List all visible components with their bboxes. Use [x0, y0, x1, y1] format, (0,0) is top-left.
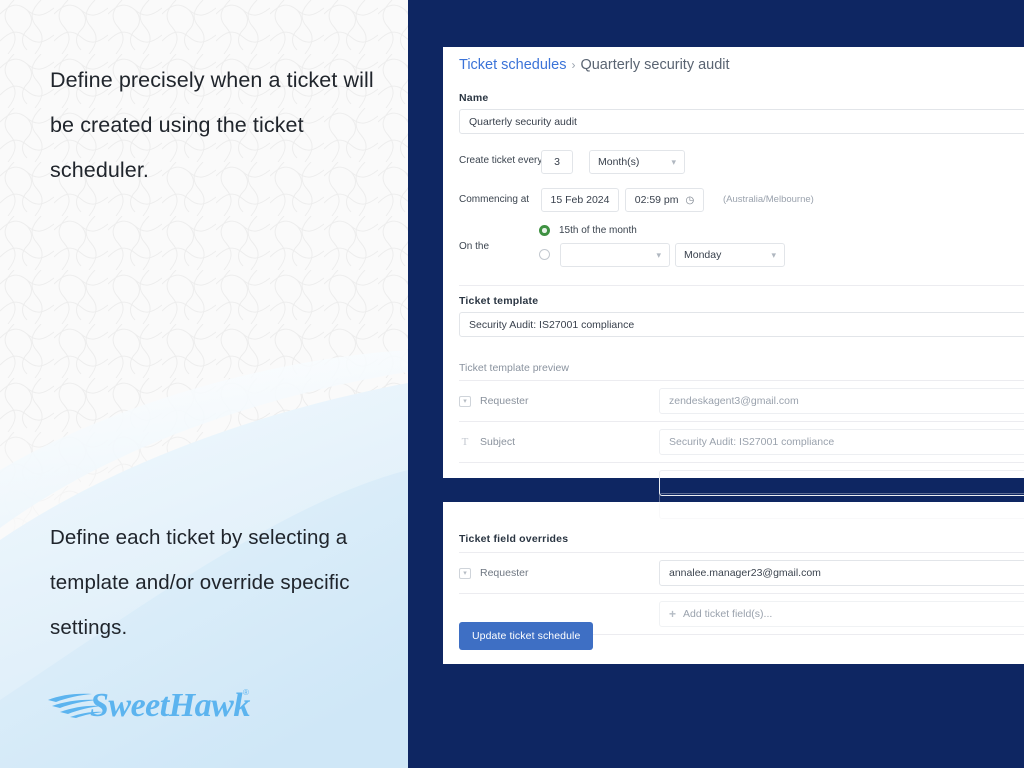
add-ticket-field-input[interactable]: + Add ticket field(s)...	[659, 601, 1024, 627]
sweethawk-logo: SweetHawk ®	[46, 676, 258, 728]
chevron-down-icon: ▾	[671, 157, 676, 168]
svg-text:SweetHawk: SweetHawk	[90, 687, 250, 724]
app-screenshot-area: Ticket schedules›Quarterly security audi…	[408, 0, 1024, 768]
weekday-select-value: Monday	[684, 249, 721, 261]
timezone-text: (Australia/Melbourne)	[723, 194, 814, 205]
preview-row-value[interactable]: zendeskagent3@gmail.com	[659, 388, 1024, 414]
dropdown-field-icon: ▾	[459, 396, 471, 407]
chevron-down-icon: ▾	[656, 250, 661, 261]
update-ticket-schedule-button[interactable]: Update ticket schedule	[459, 622, 593, 650]
preview-row-subject: T Subject Security Audit: IS27001 compli…	[459, 422, 1024, 462]
frequency-unit-select[interactable]: Month(s) ▾	[589, 150, 685, 174]
name-input[interactable]: Quarterly security audit	[459, 109, 1024, 134]
ticket-template-input[interactable]: Security Audit: IS27001 compliance	[459, 312, 1024, 337]
commencing-label: Commencing at	[459, 194, 529, 205]
preview-row-value[interactable]: Security Audit: IS27001 compliance	[659, 429, 1024, 455]
ticket-field-overrides-card: Ticket field overrides ▾ Requester annal…	[443, 502, 1024, 664]
trademark-symbol: ®	[243, 688, 249, 697]
ticket-field-overrides-label: Ticket field overrides	[459, 533, 568, 545]
ordinal-select[interactable]: ▾	[560, 243, 670, 267]
overrides-row-requester: ▾ Requester annalee.manager23@gmail.com	[459, 553, 1024, 593]
breadcrumb-link-ticket-schedules[interactable]: Ticket schedules	[459, 57, 566, 73]
headline-bottom: Define each ticket by selecting a templa…	[50, 515, 380, 650]
text-field-icon: T	[459, 437, 471, 448]
frequency-count-input[interactable]: 3	[541, 150, 573, 174]
commencing-date-input[interactable]: 15 Feb 2024	[541, 188, 619, 212]
ticket-schedule-form-card: Ticket schedules›Quarterly security audi…	[443, 47, 1024, 478]
radio-unselected-icon[interactable]	[539, 249, 550, 260]
clock-icon: ◷	[686, 195, 695, 206]
preview-row-name-cell: T Subject	[459, 436, 659, 448]
radio-selected-icon[interactable]	[539, 225, 550, 236]
radio-option-weekday[interactable]	[539, 249, 550, 260]
section-divider	[459, 285, 1024, 286]
preview-row-name-cell: ▾ Requester	[459, 395, 659, 407]
overrides-row-name-cell: ▾ Requester	[459, 567, 659, 579]
frequency-unit-value: Month(s)	[598, 156, 639, 168]
name-label: Name	[459, 92, 488, 104]
breadcrumb-separator-icon: ›	[571, 58, 575, 72]
radio-option-month-day[interactable]: 15th of the month	[539, 225, 637, 236]
add-ticket-field-placeholder: Add ticket field(s)...	[683, 608, 772, 620]
marketing-panel: Define precisely when a ticket will be c…	[0, 0, 408, 768]
dropdown-field-icon: ▾	[459, 568, 471, 579]
breadcrumb-current: Quarterly security audit	[580, 57, 729, 73]
frequency-label: Create ticket every	[459, 155, 542, 166]
weekday-select[interactable]: Monday ▾	[675, 243, 785, 267]
commencing-time-value: 02:59 pm	[635, 194, 679, 206]
ticket-template-label: Ticket template	[459, 295, 538, 307]
overrides-row-label: Requester	[480, 567, 528, 579]
on-the-label: On the	[459, 241, 489, 252]
breadcrumb: Ticket schedules›Quarterly security audi…	[459, 57, 730, 73]
preview-row-label: Subject	[480, 436, 515, 448]
overrides-row-value	[659, 493, 1024, 519]
overrides-row-value[interactable]: annalee.manager23@gmail.com	[659, 560, 1024, 586]
ticket-template-preview-label: Ticket template preview	[459, 362, 569, 374]
plus-icon: +	[669, 607, 676, 621]
commencing-time-input[interactable]: 02:59 pm ◷	[625, 188, 704, 212]
headline-top: Define precisely when a ticket will be c…	[50, 58, 380, 193]
preview-row-label: Requester	[480, 395, 528, 407]
preview-row-requester: ▾ Requester zendeskagent3@gmail.com	[459, 381, 1024, 421]
overrides-row-cutoff	[459, 486, 1024, 526]
chevron-down-icon: ▾	[771, 250, 776, 261]
radio-option-month-day-label: 15th of the month	[559, 225, 637, 236]
